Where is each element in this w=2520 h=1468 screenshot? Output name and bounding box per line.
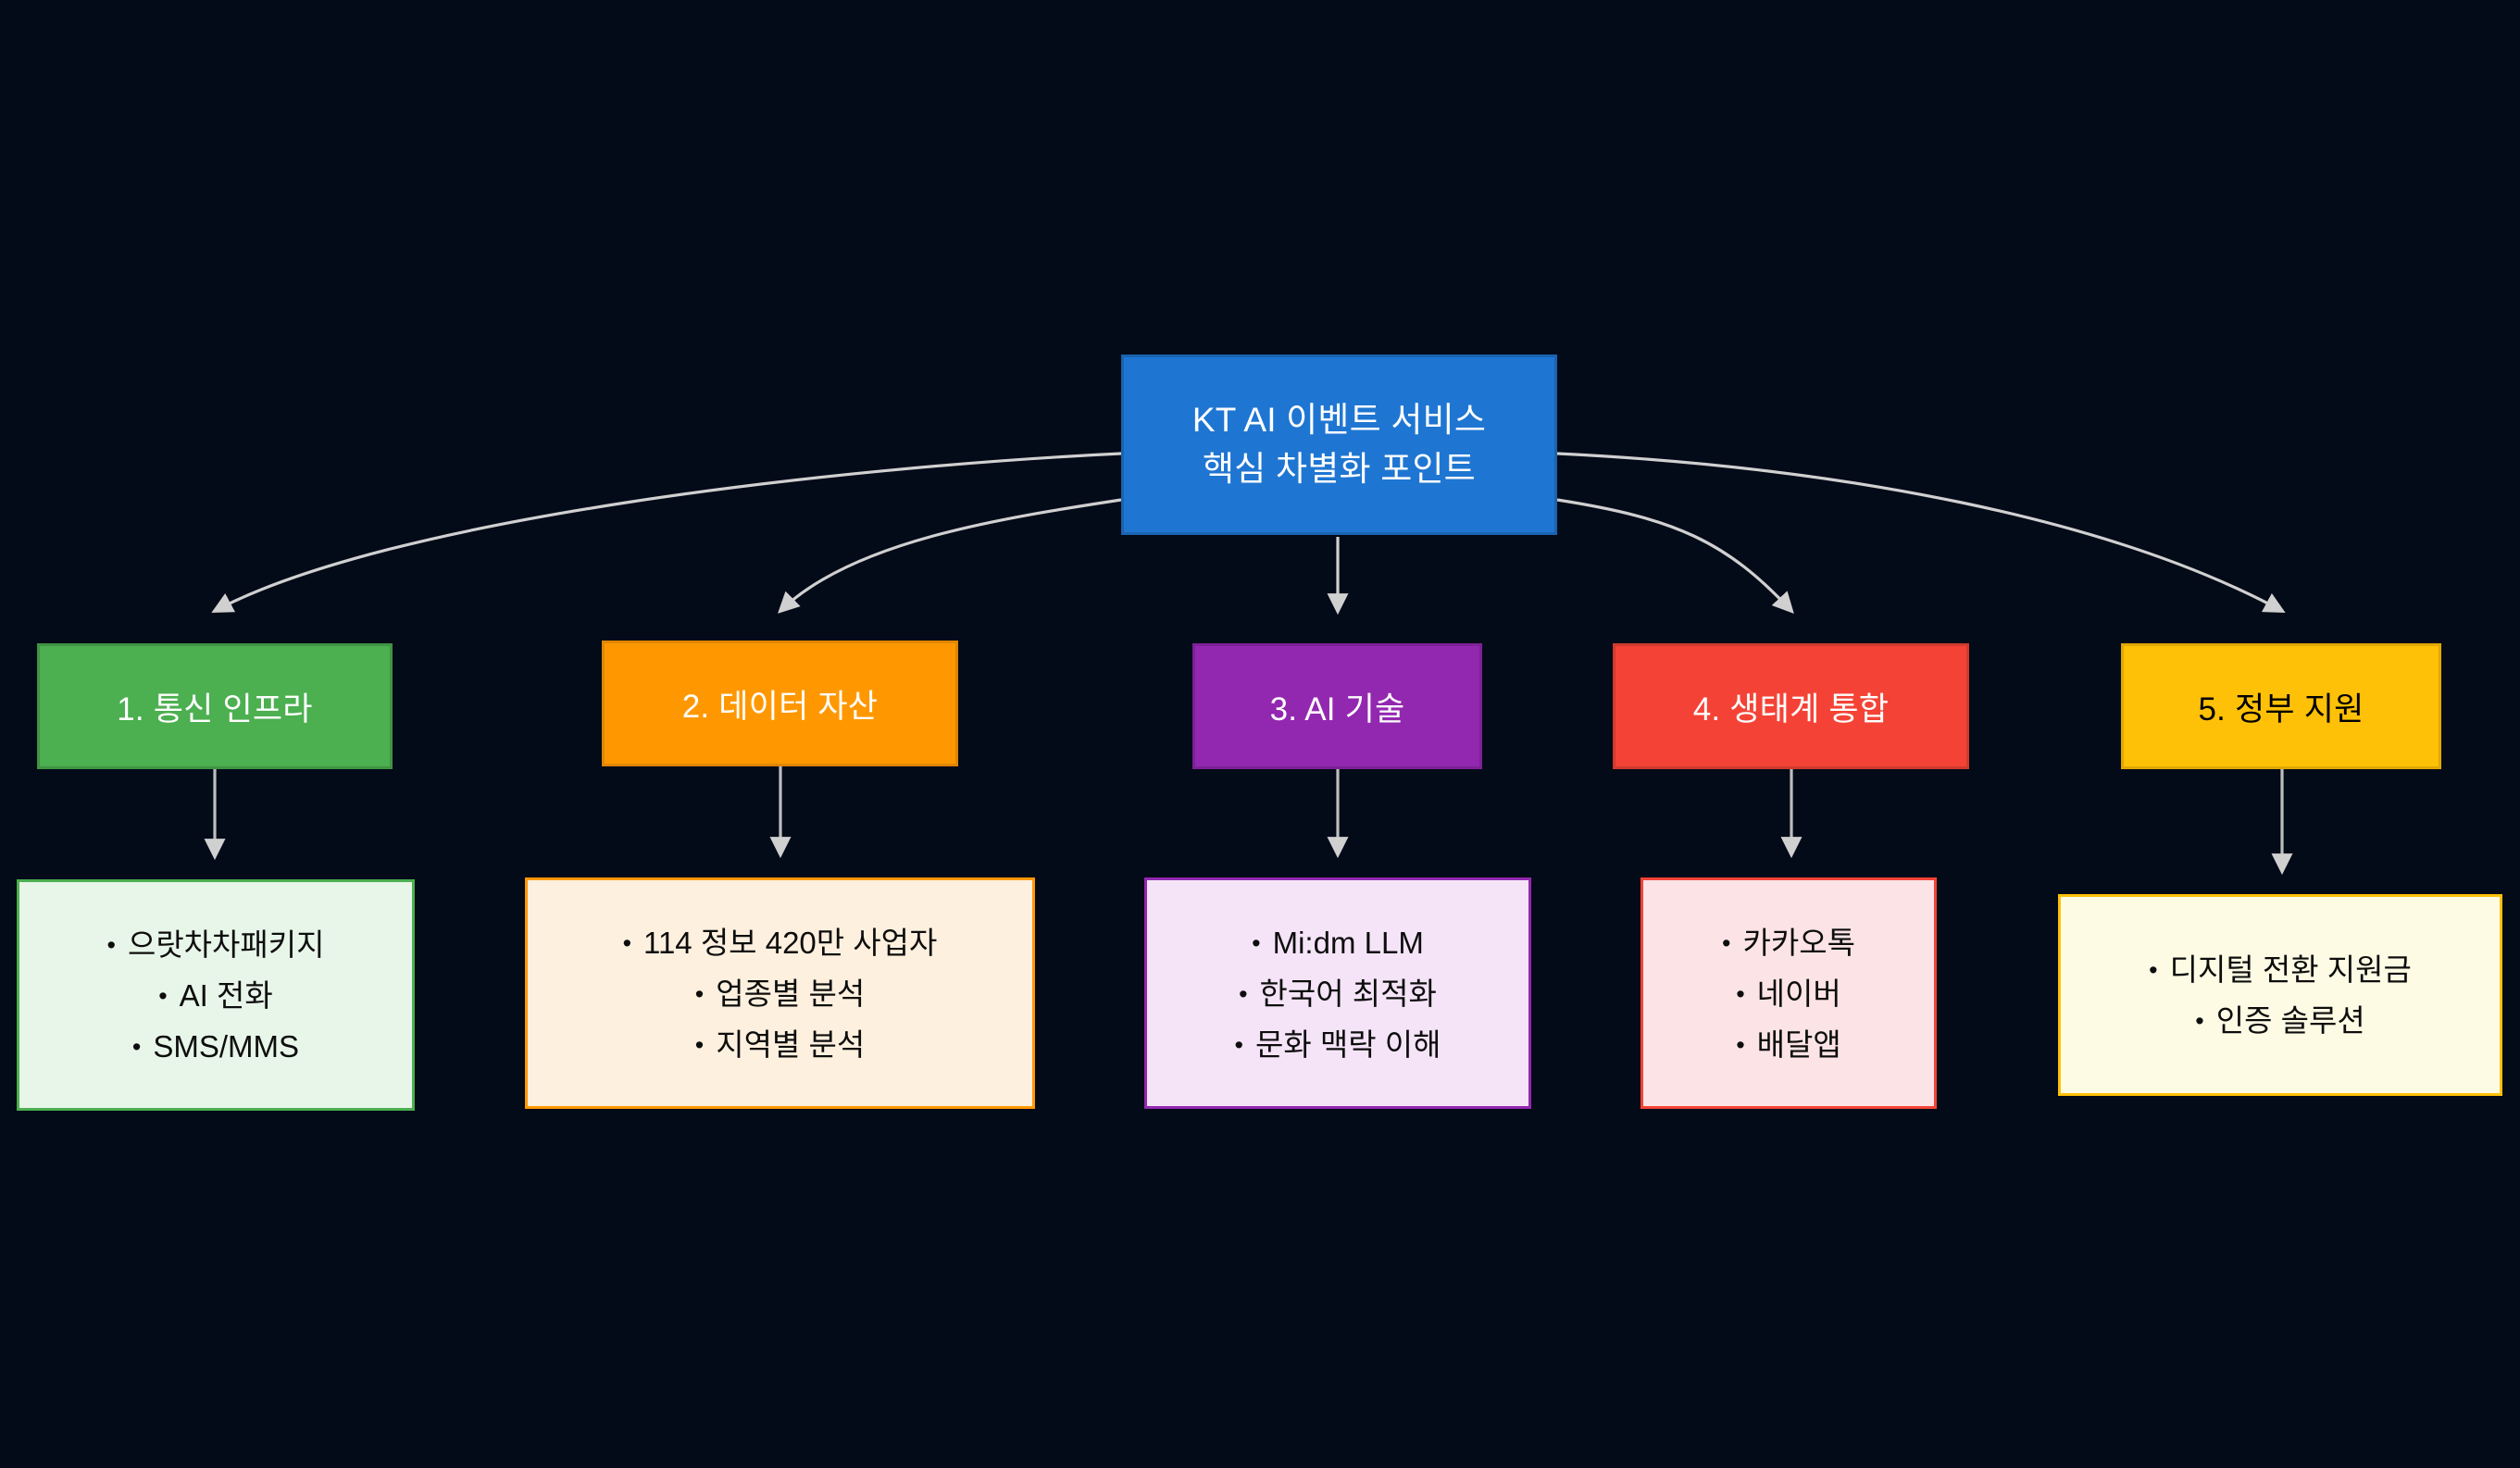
bullet-icon: • [1736,982,1744,1007]
list-item: •한국어 최적화 [1235,978,1441,1009]
branch-node-1[interactable]: 1. 통신 인프라 [37,643,393,769]
list-item: •디지털 전환 지원금 [2149,954,2412,985]
detail-item-3-2: 문화 맥락 이해 [1255,1027,1441,1062]
list-item: •문화 맥락 이해 [1235,1029,1441,1060]
detail-item-4-2: 배달앱 [1757,1027,1841,1062]
branch-node-5[interactable]: 5. 정부 지원 [2121,643,2441,769]
bullet-icon: • [2149,958,2157,983]
branch-node-3[interactable]: 3. AI 기술 [1192,643,1482,769]
list-item: •네이버 [1722,978,1855,1009]
detail-item-4-1: 네이버 [1757,977,1841,1011]
branch-label-5: 5. 정부 지원 [2198,683,2364,730]
detail-list-4: •카카오톡 •네이버 •배달앱 [1722,927,1855,1060]
bullet-icon: • [1252,931,1260,956]
edge-root-to-branch-4 [1557,500,1791,611]
list-item: •Mi:dm LLM [1235,927,1441,958]
diagram-canvas: KT AI 이벤트 서비스 핵심 차별화 포인트 1. 통신 인프라 2. 데이… [0,0,2520,1468]
list-item: •인증 솔루션 [2149,1005,2412,1036]
root-title-line-2: 핵심 차별화 포인트 [1203,445,1476,494]
bullet-icon: • [695,982,704,1007]
detail-list-2: •114 정보 420만 사업자 •업종별 분석 •지역별 분석 [623,927,938,1060]
detail-item-5-0: 디지털 전환 지원금 [2170,952,2412,987]
detail-node-3[interactable]: •Mi:dm LLM •한국어 최적화 •문화 맥락 이해 [1144,877,1531,1109]
list-item: •AI 전화 [107,980,325,1011]
edge-root-to-branch-2 [780,500,1121,611]
bullet-icon: • [1722,931,1730,956]
bullet-icon: • [158,984,167,1009]
detail-item-3-1: 한국어 최적화 [1260,977,1437,1011]
list-item: •114 정보 420만 사업자 [623,927,938,958]
detail-item-3-0: Mi:dm LLM [1273,926,1424,960]
bullet-icon: • [2195,1009,2203,1034]
branch-label-2: 2. 데이터 자산 [682,680,878,728]
root-node[interactable]: KT AI 이벤트 서비스 핵심 차별화 포인트 [1121,355,1557,535]
detail-list-1: •으랏차차패키지 •AI 전화 •SMS/MMS [107,929,325,1062]
bullet-icon: • [132,1035,141,1060]
list-item: •업종별 분석 [623,978,938,1009]
detail-item-1-0: 으랏차차패키지 [128,927,325,962]
detail-item-5-1: 인증 솔루션 [2216,1003,2365,1038]
bullet-icon: • [1235,1033,1243,1058]
list-item: •배달앱 [1722,1029,1855,1060]
edge-root-to-branch-5 [1557,454,2282,611]
bullet-icon: • [695,1033,704,1058]
edge-root-to-branch-1 [215,454,1121,611]
detail-node-5[interactable]: •디지털 전환 지원금 •인증 솔루션 [2058,894,2502,1096]
bullet-icon: • [1239,982,1247,1007]
detail-node-4[interactable]: •카카오톡 •네이버 •배달앱 [1640,877,1937,1109]
branch-label-4: 4. 생태계 통합 [1693,683,1889,730]
detail-list-5: •디지털 전환 지원금 •인증 솔루션 [2149,954,2412,1036]
detail-item-2-0: 114 정보 420만 사업자 [643,926,937,960]
branch-label-3: 3. AI 기술 [1270,683,1405,730]
branch-label-1: 1. 통신 인프라 [117,683,312,730]
list-item: •카카오톡 [1722,927,1855,958]
detail-node-1[interactable]: •으랏차차패키지 •AI 전화 •SMS/MMS [17,879,415,1111]
bullet-icon: • [107,933,116,958]
detail-item-1-2: SMS/MMS [153,1029,299,1064]
detail-node-2[interactable]: •114 정보 420만 사업자 •업종별 분석 •지역별 분석 [525,877,1035,1109]
detail-item-2-2: 지역별 분석 [716,1027,865,1062]
detail-item-4-0: 카카오톡 [1743,926,1855,960]
root-title-line-1: KT AI 이벤트 서비스 [1192,396,1486,445]
list-item: •지역별 분석 [623,1029,938,1060]
branch-node-4[interactable]: 4. 생태계 통합 [1613,643,1969,769]
branch-node-2[interactable]: 2. 데이터 자산 [602,641,958,766]
list-item: •으랏차차패키지 [107,929,325,960]
detail-item-2-1: 업종별 분석 [716,977,865,1011]
detail-list-3: •Mi:dm LLM •한국어 최적화 •문화 맥락 이해 [1235,927,1441,1060]
list-item: •SMS/MMS [107,1031,325,1062]
bullet-icon: • [1736,1033,1744,1058]
detail-item-1-1: AI 전화 [180,978,273,1013]
bullet-icon: • [623,931,631,956]
